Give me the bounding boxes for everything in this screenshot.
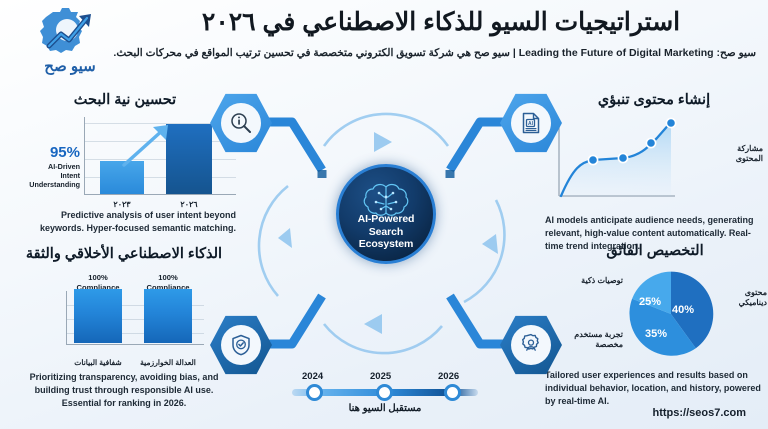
node-content-generation[interactable]: AI [500,92,562,154]
panel-hyper-personalization: التخصيص الفائق 40% 35% 25% محتوى ديناميك… [545,243,765,408]
brand-name: سيو صح [44,57,95,75]
flow-arrowhead-left [278,228,292,248]
panel-hyper-personalization-description: Tailored user experiences and results ba… [545,369,765,407]
ethics-xlabel-transparency: شفافية البيانات [66,358,130,367]
ai-ecosystem-diagram: AI [196,88,576,378]
intent-stat-label-line-2: Intent [14,171,80,180]
hub-label-line-3: Ecosystem [358,238,415,250]
data-point [666,119,675,128]
site-url[interactable]: https://seos7.com [652,407,746,419]
pie-value-smart-recommendations: 25% [639,296,661,308]
data-point [618,154,627,163]
content-chart-axis-label: مشاركة المحتوى [715,144,763,164]
timeline-marker-2025[interactable] [376,384,393,401]
roadmap-timeline: 2024 2025 2026 مستقبل السيو هنا [292,371,478,419]
predictive-content-chart: مشاركة المحتوى [545,116,763,208]
node-trust-security[interactable] [210,314,272,376]
flow-arc-right [464,200,504,302]
intent-stat-label: AI-Driven Intent Understanding [14,162,80,189]
intent-stat-label-line-3: Understanding [14,180,80,189]
shield-check-icon [229,333,253,357]
ecosystem-hub[interactable]: AI-Powered Search Ecosystem [315,186,457,282]
ethics-bar-transparency [74,289,122,343]
intent-stat-label-line-1: AI-Driven [14,162,80,171]
personalization-pie-chart: 40% 35% 25% محتوى ديناميكي تجربة مستخدم … [545,266,765,363]
flow-arc-bottom [324,324,442,353]
infographic-page: سيو صح استراتيجيات السيو للذكاء الاصطناع… [0,0,768,429]
title-block: استراتيجيات السيو للذكاء الاصطناعي في ٢٠… [126,8,756,60]
header: سيو صح استراتيجيات السيو للذكاء الاصطناع… [0,0,768,84]
hub-label-line-2: Search [358,226,415,238]
node-search-intent[interactable] [210,92,272,154]
panel-predictive-content-title: إنشاء محتوى تنبؤي [545,92,763,109]
gear-growth-arrow-icon [39,6,101,56]
timeline-year-2026: 2026 [438,371,459,382]
pie-chart-graphic [625,268,717,360]
pie-value-dynamic-content: 40% [672,304,694,316]
page-title: استراتيجيات السيو للذكاء الاصطناعي في ٢٠… [126,8,756,37]
timeline-year-2024: 2024 [302,371,323,382]
ethics-bar-fairness [144,289,192,343]
panel-hyper-personalization-title: التخصيص الفائق [545,243,765,260]
flow-arrowhead-right [482,234,498,254]
pie-legend-dynamic-content: محتوى ديناميكي [723,288,767,308]
timeline-marker-2024[interactable] [306,384,323,401]
svg-text:AI: AI [528,121,534,127]
node-personalization[interactable] [500,314,562,376]
node-icon-wrap: AI [511,103,551,143]
timeline-year-2025: 2025 [370,371,391,382]
hub-core: AI-Powered Search Ecosystem [336,164,436,264]
document-ai-chip-icon: AI [519,111,543,135]
node-icon-wrap [511,325,551,365]
data-point [588,156,597,165]
user-gear-icon [519,333,543,357]
intent-stat-block: 95% AI-Driven Intent Understanding [14,145,84,203]
ethics-y-axis [66,291,67,345]
magnifier-info-icon [229,111,253,135]
flow-arrowhead-top [374,132,392,152]
timeline-marker-2026[interactable] [444,384,461,401]
pie-value-user-experience: 35% [645,328,667,340]
ethics-x-axis [66,344,204,345]
timeline-caption: مستقبل السيو هنا [292,403,478,414]
intent-y-axis [84,117,85,195]
brand-logo: سيو صح [18,6,122,82]
ethics-xlabel-fairness: العدالة الخوارزمية [136,358,200,367]
hub-label: AI-Powered Search Ecosystem [358,213,415,250]
node-icon-wrap [221,103,261,143]
data-point [646,139,655,148]
intent-stat-value: 95% [14,145,80,160]
node-icon-wrap [221,325,261,365]
flow-arrowhead-bottom [364,314,382,334]
upward-trend-arrow-icon [120,123,176,169]
page-subtitle: سيو صح: Leading the Future of Digital Ma… [126,46,756,60]
panel-predictive-content: إنشاء محتوى تنبؤي مشاركة المحتوى [545,92,763,253]
bar-label-2023: ٢٠٢٣ [100,200,144,209]
ai-brain-circuit-icon [359,182,413,218]
